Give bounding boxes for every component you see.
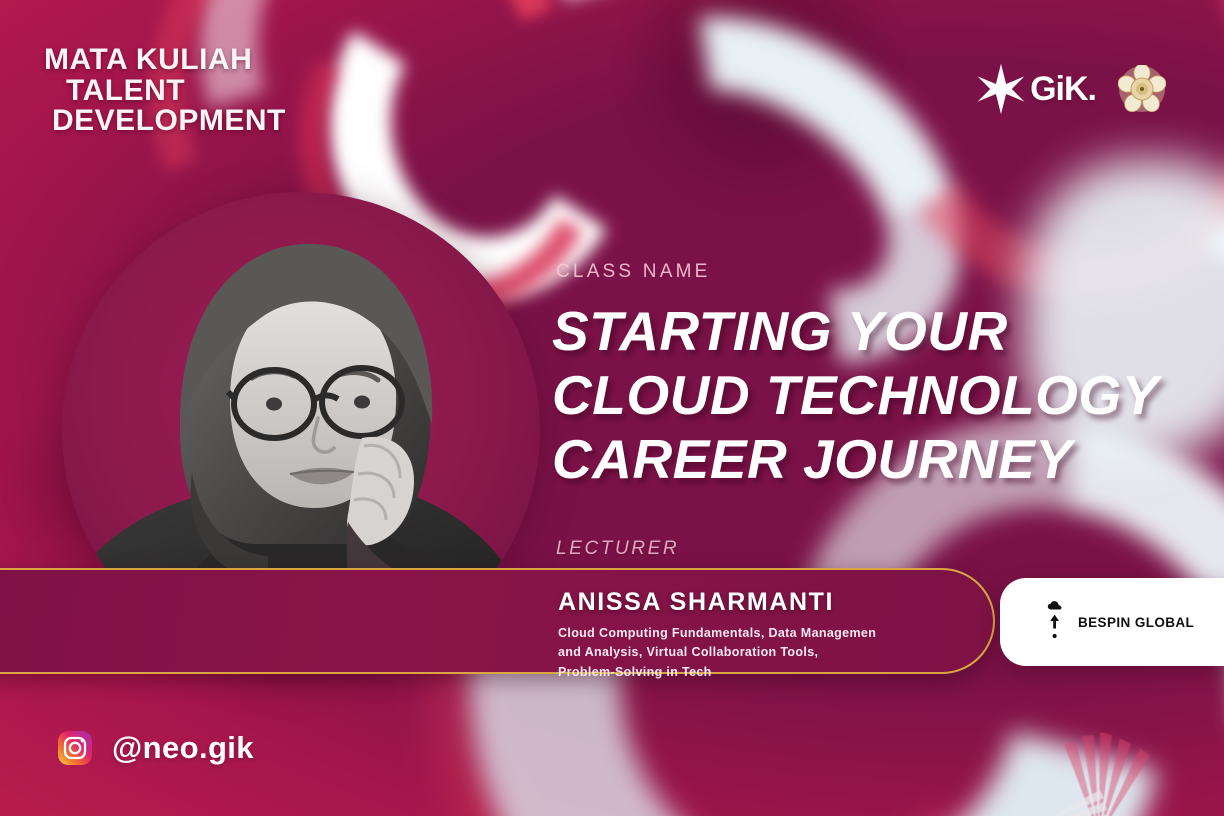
gik-wordmark: GiK. [1030, 70, 1096, 109]
lecturer-name: ANISSA SHARMANTI [558, 588, 876, 617]
lecturer-label: LECTURER [556, 538, 679, 560]
title-line2: CLOUD TECHNOLOGY [552, 364, 1159, 428]
course-heading-line2: TALENT [44, 76, 286, 107]
instagram-icon[interactable] [58, 731, 92, 765]
title-line3: CAREER JOURNEY [552, 428, 1159, 492]
lecturer-topics-line2: and Analysis, Virtual Collaboration Tool… [558, 643, 876, 662]
asterisk-starburst-icon [974, 62, 1028, 116]
course-heading-line1: MATA KULIAH [44, 45, 286, 76]
lecturer-topics-line1: Cloud Computing Fundamentals, Data Manag… [558, 624, 876, 643]
ray-burst-icon [1004, 686, 1194, 816]
social-handle-text[interactable]: @neo.gik [112, 730, 254, 766]
page-title: STARTING YOUR CLOUD TECHNOLOGY CAREER JO… [552, 300, 1159, 491]
lecturer-topics-line3: Problem-Solving in Tech [558, 663, 876, 682]
cloud-arrow-up-icon [1046, 600, 1066, 644]
lecturer-card: ANISSA SHARMANTI Cloud Computing Fundame… [0, 568, 995, 674]
class-name-label: CLASS NAME [556, 261, 710, 283]
gik-logo: GiK. [974, 62, 1096, 116]
brand-logo-row: GiK. [974, 62, 1166, 116]
floral-rosette-seal-icon [1118, 65, 1166, 113]
lecturer-card-content: ANISSA SHARMANTI Cloud Computing Fundame… [558, 588, 876, 682]
social-handle[interactable]: @neo.gik [58, 730, 254, 766]
lecturer-topics: Cloud Computing Fundamentals, Data Manag… [558, 624, 876, 682]
partner-badge: BESPIN GLOBAL [1000, 578, 1224, 666]
title-line1: STARTING YOUR [552, 300, 1159, 364]
course-heading-line3: DEVELOPMENT [44, 106, 286, 137]
partner-name: BESPIN GLOBAL [1078, 615, 1194, 630]
course-heading: MATA KULIAH TALENT DEVELOPMENT [44, 45, 286, 137]
poster-canvas: MATA KULIAH TALENT DEVELOPMENT GiK. [0, 0, 1224, 816]
